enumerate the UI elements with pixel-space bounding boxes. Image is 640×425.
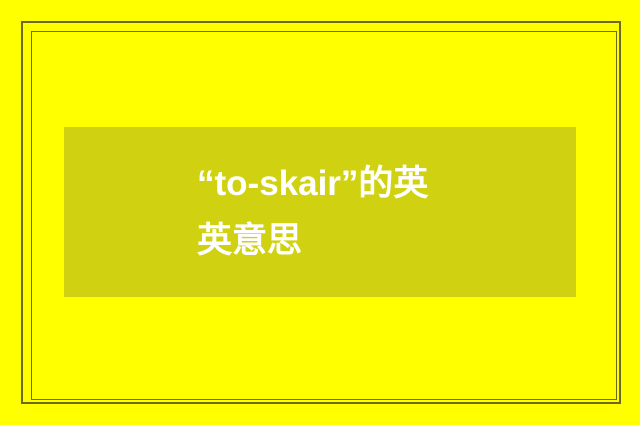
title-panel: “to-skair”的英英意思	[64, 127, 576, 297]
page-title: “to-skair”的英英意思	[197, 155, 447, 269]
title-text-wrapper: “to-skair”的英英意思	[197, 155, 447, 269]
thumbnail-canvas: “to-skair”的英英意思	[0, 0, 640, 425]
